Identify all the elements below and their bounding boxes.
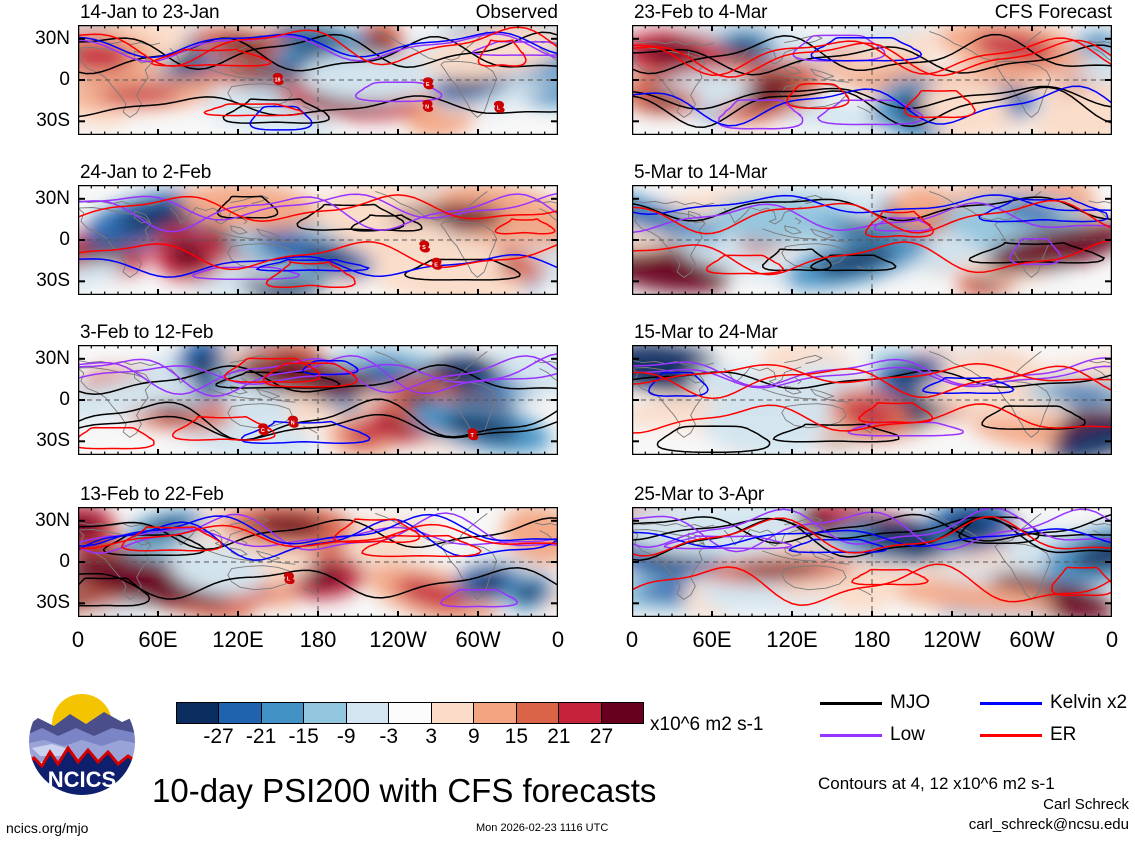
contour-note: Contours at 4, 12 x10^6 m2 s-1 bbox=[818, 774, 1055, 794]
panel-title-7: 15-Mar to 24-Mar bbox=[634, 323, 778, 343]
legend-swatch-kelvin bbox=[980, 702, 1042, 705]
legend-swatch-low bbox=[820, 734, 882, 737]
legend-label-er: ER bbox=[1050, 722, 1076, 748]
y-tick-30n-row1: 30N bbox=[2, 189, 70, 208]
legend-item-kelvin: Kelvin x2 bbox=[980, 690, 1135, 716]
colorbar-segment-3 bbox=[304, 703, 346, 723]
column-tag-forecast: CFS Forecast bbox=[632, 3, 1112, 23]
colorbar-segment-9 bbox=[559, 703, 601, 723]
legend-swatch-mjo bbox=[820, 702, 882, 705]
y-tick-0-row2: 0 bbox=[2, 390, 70, 409]
colorbar-segment-7 bbox=[474, 703, 516, 723]
site-url: ncics.org/mjo bbox=[6, 820, 88, 836]
map-5 bbox=[632, 25, 1112, 135]
x-tick-left-5: 60W bbox=[433, 629, 523, 651]
y-tick-30s-row0: 30S bbox=[2, 111, 70, 130]
x-tick-right-1: 60E bbox=[667, 629, 757, 651]
map-4: L bbox=[78, 507, 558, 617]
logo-label: NCICS bbox=[48, 767, 116, 792]
panel-title-4: 13-Feb to 22-Feb bbox=[80, 485, 224, 505]
y-tick-0-row1: 0 bbox=[2, 230, 70, 249]
panel-title-6: 5-Mar to 14-Mar bbox=[634, 163, 767, 183]
x-tick-left-0: 0 bbox=[33, 629, 123, 651]
legend-item-er: ER bbox=[980, 722, 1135, 748]
colorbar-segment-6 bbox=[432, 703, 474, 723]
legend-label-low: Low bbox=[890, 722, 925, 748]
y-tick-30s-row2: 30S bbox=[2, 431, 70, 450]
legend-swatch-er bbox=[980, 734, 1042, 737]
main-title: 10-day PSI200 with CFS forecasts bbox=[152, 772, 656, 810]
colorbar-segment-8 bbox=[517, 703, 559, 723]
colorbar-segment-2 bbox=[262, 703, 304, 723]
x-tick-right-4: 120W bbox=[907, 629, 997, 651]
y-tick-30s-row1: 30S bbox=[2, 271, 70, 290]
legend-item-low: Low bbox=[820, 722, 970, 748]
colorbar-segment-5 bbox=[389, 703, 431, 723]
panel-title-2: 24-Jan to 2-Feb bbox=[80, 163, 211, 183]
x-tick-right-5: 60W bbox=[987, 629, 1077, 651]
y-tick-0-row0: 0 bbox=[2, 70, 70, 89]
ncics-logo: NCICS bbox=[24, 684, 140, 800]
legend-label-mjo: MJO bbox=[890, 690, 930, 716]
column-tag-observed: Observed bbox=[78, 3, 558, 23]
colorbar bbox=[176, 702, 644, 724]
colorbar-segment-10 bbox=[602, 703, 643, 723]
timestamp: Mon 2026-02-23 1116 UTC bbox=[476, 822, 608, 834]
colorbar-segment-4 bbox=[347, 703, 389, 723]
author-name: Carl Schreck bbox=[818, 796, 1129, 813]
colorbar-tick-9: 27 bbox=[571, 726, 631, 747]
map-6 bbox=[632, 185, 1112, 295]
svg-text:N: N bbox=[291, 420, 295, 426]
legend-label-kelvin: Kelvin x2 bbox=[1050, 690, 1127, 716]
svg-text:18: 18 bbox=[274, 78, 280, 84]
colorbar-units-label: x10^6 m2 s-1 bbox=[650, 714, 763, 736]
y-tick-30n-row0: 30N bbox=[2, 29, 70, 48]
svg-text:E: E bbox=[426, 82, 430, 88]
y-tick-0-row3: 0 bbox=[2, 552, 70, 571]
map-3: TCN bbox=[78, 345, 558, 455]
map-8 bbox=[632, 507, 1112, 617]
x-tick-right-0: 0 bbox=[587, 629, 677, 651]
svg-text:C: C bbox=[261, 428, 265, 434]
svg-text:E: E bbox=[434, 262, 438, 268]
y-tick-30s-row3: 30S bbox=[2, 593, 70, 612]
x-tick-right-2: 120E bbox=[747, 629, 837, 651]
map-1: NL18E bbox=[78, 25, 558, 135]
x-tick-left-2: 120E bbox=[193, 629, 283, 651]
wave-legend: MJO Low Kelvin x2 ER bbox=[820, 690, 1135, 752]
x-tick-left-3: 180 bbox=[273, 629, 363, 651]
x-tick-left-4: 120W bbox=[353, 629, 443, 651]
y-tick-30n-row3: 30N bbox=[2, 511, 70, 530]
map-2: ES bbox=[78, 185, 558, 295]
author-email: carl_schreck@ncsu.edu bbox=[818, 816, 1129, 833]
y-tick-30n-row2: 30N bbox=[2, 349, 70, 368]
x-tick-right-3: 180 bbox=[827, 629, 917, 651]
x-tick-left-1: 60E bbox=[113, 629, 203, 651]
panel-title-3: 3-Feb to 12-Feb bbox=[80, 323, 213, 343]
panel-title-8: 25-Mar to 3-Apr bbox=[634, 485, 764, 505]
legend-item-mjo: MJO bbox=[820, 690, 970, 716]
x-tick-right-6: 0 bbox=[1067, 629, 1135, 651]
colorbar-segment-0 bbox=[177, 703, 219, 723]
map-7 bbox=[632, 345, 1112, 455]
figure-canvas: 14-Jan to 23-JanObserved30N030SNL18E24-J… bbox=[0, 0, 1135, 844]
svg-text:S: S bbox=[422, 245, 426, 251]
svg-text:N: N bbox=[425, 105, 429, 111]
colorbar-segment-1 bbox=[219, 703, 261, 723]
